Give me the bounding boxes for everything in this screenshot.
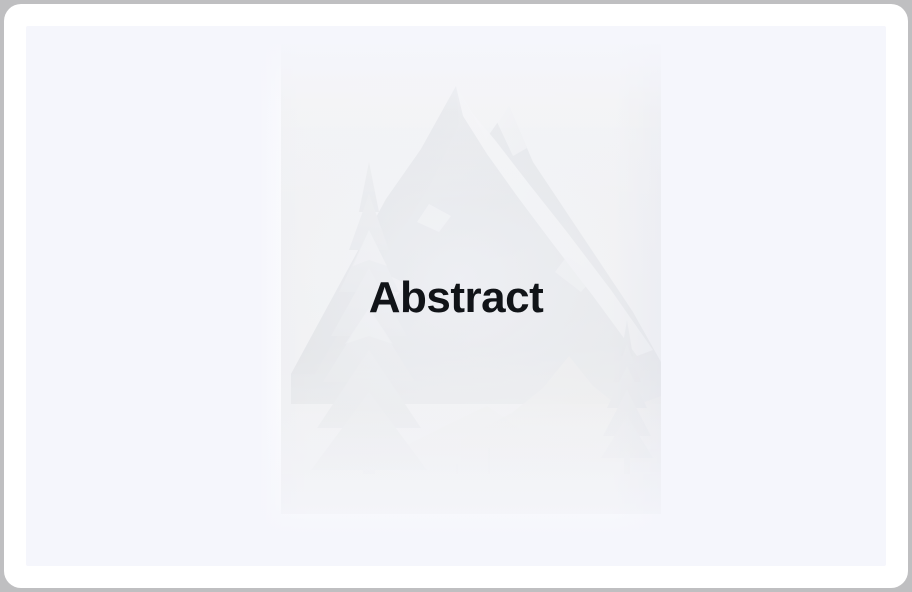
- content-panel: Abstract: [26, 26, 886, 566]
- fog-overlay: [281, 344, 661, 514]
- mountain-landscape-illustration: [281, 44, 661, 514]
- hero-figure: [259, 44, 661, 532]
- mountain-landscape-svg: [281, 44, 661, 514]
- app-window: Abstract: [4, 4, 908, 588]
